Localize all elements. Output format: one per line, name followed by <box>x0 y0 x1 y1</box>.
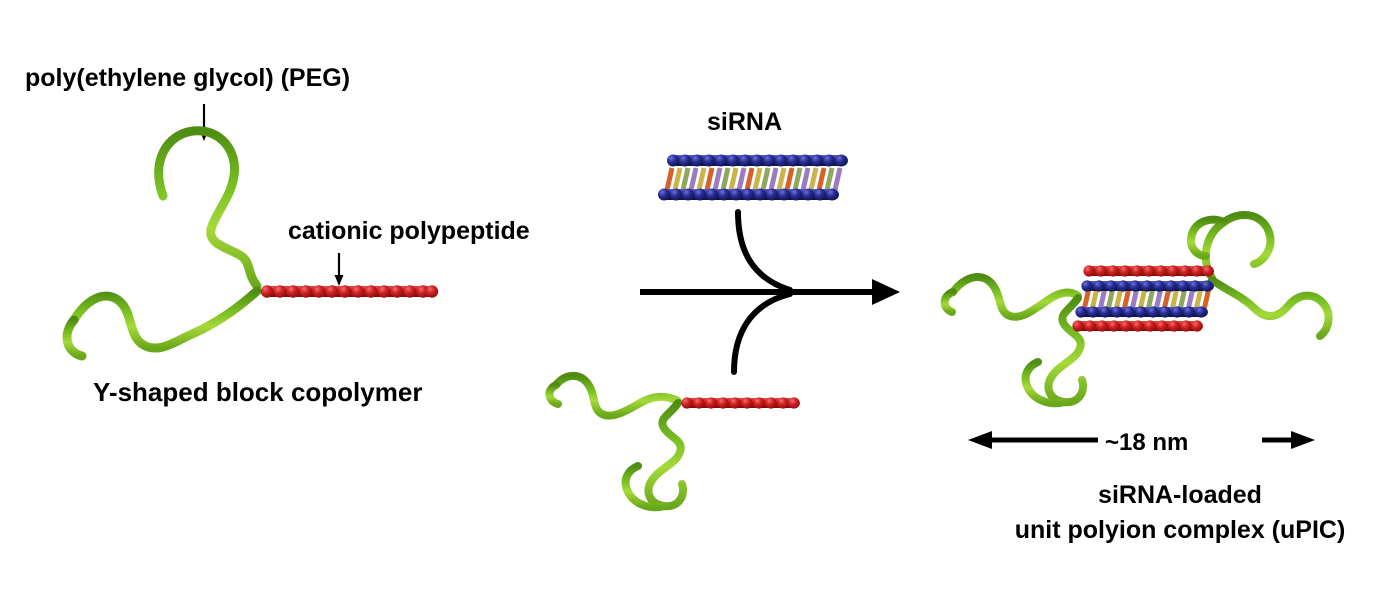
polypeptide-chain-left <box>261 285 438 297</box>
upic-polypeptide-top <box>1083 265 1214 276</box>
product-label-line1: siRNA-loaded <box>1098 481 1262 509</box>
peg-arm-upper <box>556 376 678 416</box>
polypeptide-chain-mid <box>681 397 800 408</box>
copolymer-upic-right <box>1191 215 1329 336</box>
figure-canvas: poly(ethylene glycol) (PEG) cationic pol… <box>0 0 1377 603</box>
upic-polypeptide-bottom <box>1072 320 1203 331</box>
peg-label: poly(ethylene glycol) (PEG) <box>25 64 350 92</box>
cationic-pointer-arrow-icon <box>335 253 344 286</box>
upic-rna-bottom <box>1075 306 1208 317</box>
product-label-line2: unit polyion complex (uPIC) <box>1015 516 1346 544</box>
upic-rna-top <box>1081 280 1214 291</box>
peg-arm-curl <box>549 385 558 404</box>
copolymer-mid <box>549 376 800 507</box>
copolymer-label: Y-shaped block copolymer <box>93 377 422 407</box>
peg-arm-lower <box>648 403 683 506</box>
peg-arm-upper <box>159 131 257 286</box>
size-label: ~18 nm <box>1105 429 1188 456</box>
sirna-duplex <box>658 155 848 201</box>
sirna-label: siRNA <box>707 108 782 136</box>
copolymer-upic-left <box>945 277 1083 403</box>
reaction-arrow-icon <box>640 212 900 372</box>
peg-arm-upper-tail <box>945 292 953 312</box>
peg-arm-upper <box>1206 215 1271 278</box>
sirna-strand-top <box>667 155 848 167</box>
upic-complex <box>945 215 1329 403</box>
cationic-polypeptide-label: cationic polypeptide <box>288 217 530 245</box>
peg-arm-lower <box>1212 280 1329 336</box>
peg-arm-upper <box>953 277 1078 317</box>
peg-arm-tail <box>67 320 82 356</box>
sirna-base-pairs <box>667 168 840 190</box>
peg-arm-lower <box>74 291 257 348</box>
sirna-strand-bottom <box>658 189 839 201</box>
